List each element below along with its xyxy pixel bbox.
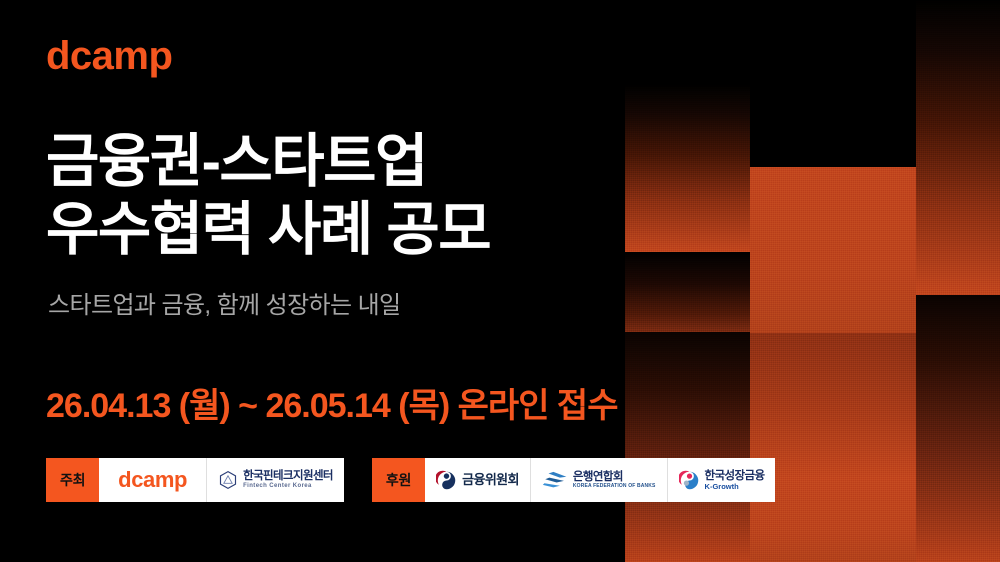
support-label: 후원: [372, 458, 425, 502]
support-group: 후원 금융위원회: [372, 458, 776, 502]
taegeuk-icon: [436, 470, 457, 491]
logo-korea-federation-of-banks: 은행연합회 KOREA FEDERATION OF BANKS: [531, 458, 668, 502]
pattern-tile: [625, 85, 750, 252]
k-growth-kr: 한국성장금융: [705, 470, 765, 482]
hexagon-icon: [218, 470, 238, 490]
fintech-center-korea-kr: 한국핀테크지원센터: [243, 470, 333, 482]
fintech-center-korea-en: Fintech Center Korea: [243, 483, 333, 489]
kfb-en: KOREA FEDERATION OF BANKS: [573, 484, 656, 489]
dcamp-wordmark: dcamp: [110, 467, 195, 493]
kfb-kr: 은행연합회: [573, 471, 656, 483]
pattern-tile: [625, 332, 750, 562]
k-growth-swirl-icon: [679, 470, 700, 491]
logo-fintech-center-korea: 한국핀테크지원센터 Fintech Center Korea: [207, 458, 344, 502]
logo-k-growth: 한국성장금융 K-Growth: [668, 458, 776, 502]
logo-dcamp: dcamp: [99, 458, 207, 502]
subtitle: 스타트업과 금융, 함께 성장하는 내일: [48, 290, 401, 321]
pattern-tile: [916, 295, 1000, 562]
fsc-kr: 금융위원회: [462, 473, 519, 487]
page-title: 금융권-스타트업 우수협력 사례 공모: [46, 128, 490, 265]
host-group: 주최 dcamp 한국핀테크지원센터 Fintech Center Korea: [46, 458, 344, 502]
application-period: 26.04.13 (월) ~ 26.05.14 (목) 온라인 접수: [46, 386, 617, 427]
host-label: 주최: [46, 458, 99, 502]
dcamp-logo: dcamp: [46, 36, 172, 76]
bank-roof-icon: [542, 470, 568, 490]
k-growth-en: K-Growth: [705, 483, 765, 491]
pattern-tile: [625, 252, 750, 332]
pattern-tile: [916, 0, 1000, 295]
promo-banner: dcamp 금융권-스타트업 우수협력 사례 공모 스타트업과 금융, 함께 성…: [0, 0, 1000, 562]
logo-financial-services-commission: 금융위원회: [425, 458, 531, 502]
pattern-tile: [750, 333, 916, 478]
pattern-tile: [750, 167, 916, 333]
sponsor-bar: 주최 dcamp 한국핀테크지원센터 Fintech Center Korea: [46, 458, 775, 502]
